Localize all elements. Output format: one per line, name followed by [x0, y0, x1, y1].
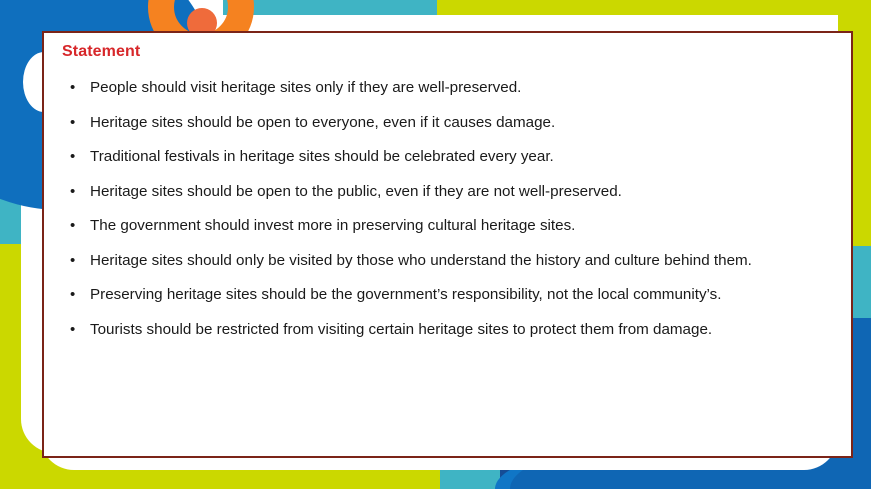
statement-list: • People should visit heritage sites onl…	[44, 61, 851, 347]
list-item: • The government should invest more in p…	[66, 209, 831, 244]
list-item: • Traditional festivals in heritage site…	[66, 140, 831, 175]
list-item-text: Heritage sites should be open to the pub…	[90, 183, 622, 200]
list-item: • Preserving heritage sites should be th…	[66, 278, 831, 313]
teal-bar-top	[223, 0, 437, 15]
list-item-text: The government should invest more in pre…	[90, 217, 575, 234]
bullet-icon: •	[70, 278, 75, 313]
list-item: • Tourists should be restricted from vis…	[66, 313, 831, 348]
list-item: • Heritage sites should be open to every…	[66, 106, 831, 141]
list-item: • Heritage sites should only be visited …	[66, 244, 831, 279]
list-item-text: Preserving heritage sites should be the …	[90, 286, 721, 303]
page-title: Statement	[44, 33, 851, 61]
bullet-icon: •	[70, 313, 75, 348]
list-item-text: Tourists should be restricted from visit…	[90, 321, 712, 338]
list-item-text: Heritage sites should only be visited by…	[90, 252, 752, 269]
lime-bar-top	[437, 0, 871, 15]
list-item-text: Heritage sites should be open to everyon…	[90, 114, 555, 131]
slide-canvas: Statement • People should visit heritage…	[0, 0, 871, 489]
bullet-icon: •	[70, 244, 75, 279]
bullet-icon: •	[70, 106, 75, 141]
list-item: • People should visit heritage sites onl…	[66, 71, 831, 106]
list-item: • Heritage sites should be open to the p…	[66, 175, 831, 210]
list-item-text: People should visit heritage sites only …	[90, 79, 521, 96]
statement-card: Statement • People should visit heritage…	[42, 31, 853, 458]
bullet-icon: •	[70, 71, 75, 106]
bullet-icon: •	[70, 209, 75, 244]
bullet-icon: •	[70, 140, 75, 175]
bullet-icon: •	[70, 175, 75, 210]
list-item-text: Traditional festivals in heritage sites …	[90, 148, 554, 165]
